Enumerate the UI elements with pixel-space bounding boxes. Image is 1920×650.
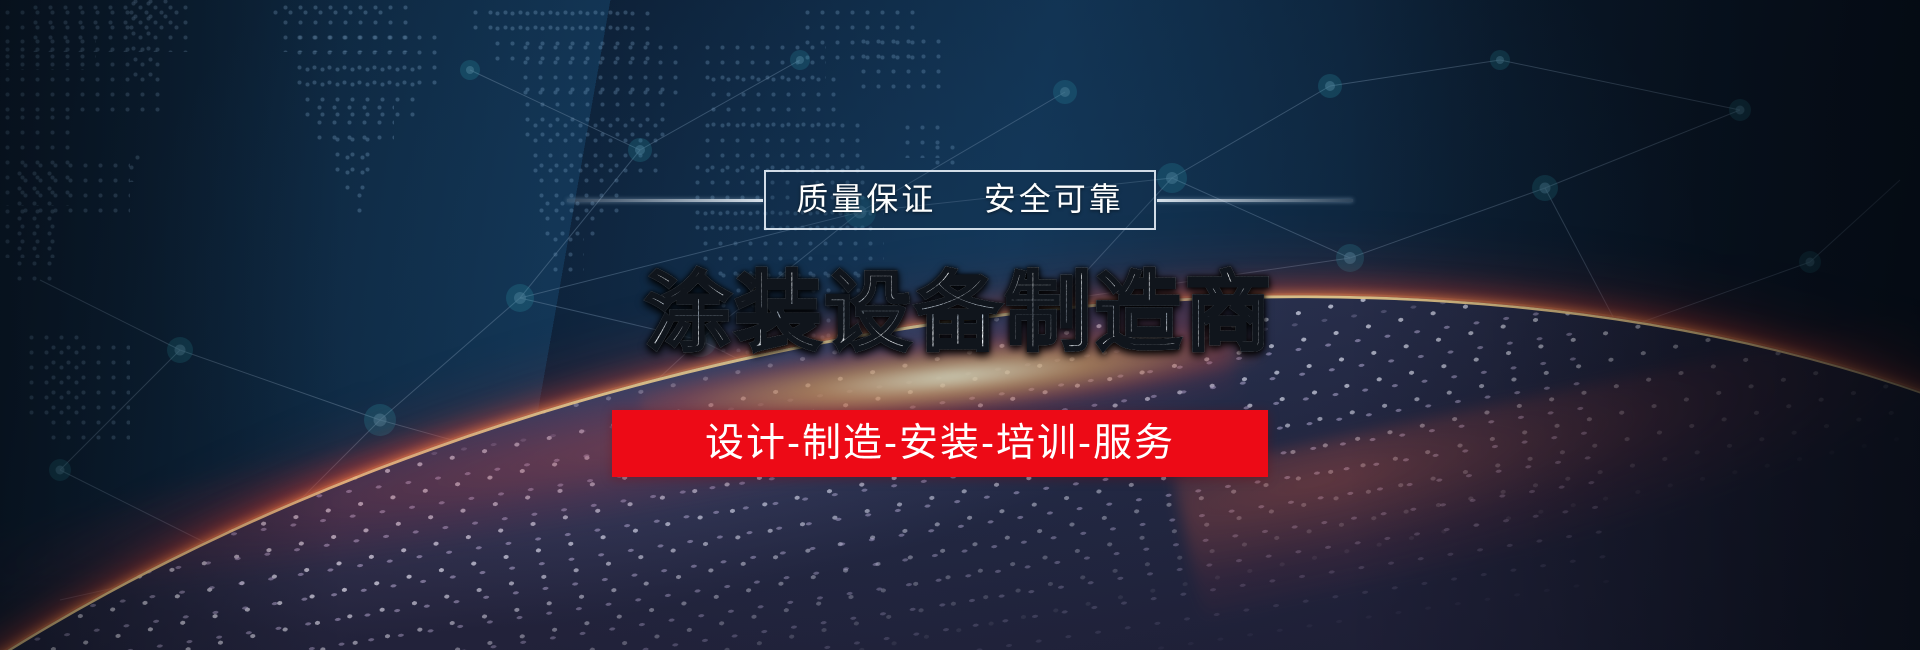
tagline-badge: 设计-制造-安装-培训-服务 bbox=[612, 410, 1268, 477]
tagline-text: 设计-制造-安装-培训-服务 bbox=[705, 420, 1175, 468]
hero-banner: 质量保证 安全可靠 涂装设备制造商 设计-制造-安装-培训-服务 bbox=[0, 0, 1920, 650]
page-title: 涂装设备制造商 bbox=[0, 262, 1920, 364]
right-rule bbox=[1157, 199, 1353, 202]
subheadline-box: 质量保证 安全可靠 bbox=[764, 170, 1156, 230]
subheadline-row: 质量保证 安全可靠 bbox=[0, 170, 1920, 230]
banner-content: 质量保证 安全可靠 涂装设备制造商 设计-制造-安装-培训-服务 bbox=[0, 0, 1920, 650]
left-rule bbox=[567, 199, 763, 202]
subheadline-text: 质量保证 安全可靠 bbox=[796, 179, 1124, 219]
